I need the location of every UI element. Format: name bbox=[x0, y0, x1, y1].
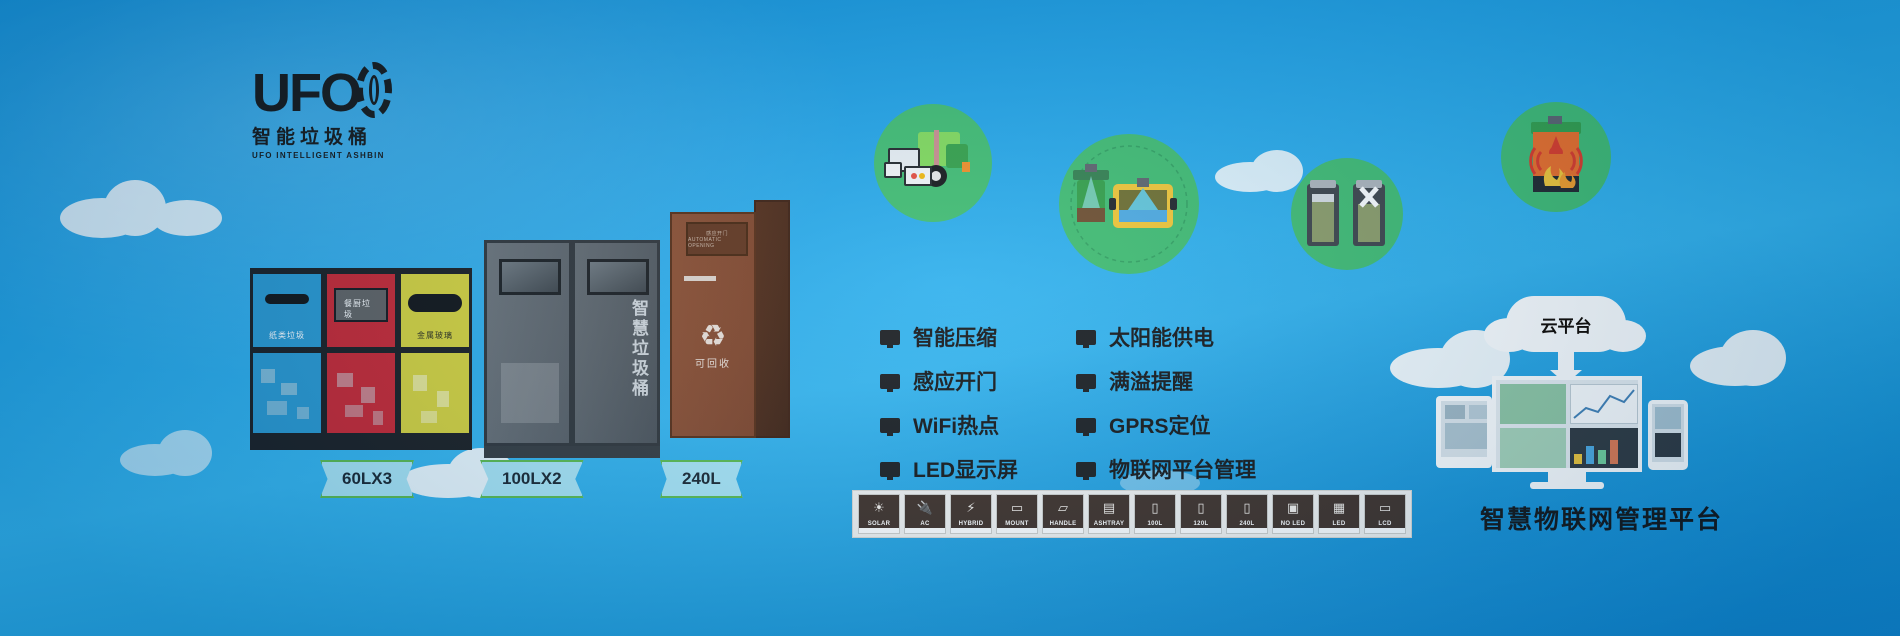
feature-item: 智能压缩 bbox=[880, 322, 1018, 352]
spec-icon-solar[interactable]: ☀SOLAR bbox=[858, 494, 900, 534]
spec-icon-ac[interactable]: 🔌AC bbox=[904, 494, 946, 534]
feature-column-right: 太阳能供电 满溢提醒 GPRS定位 物联网平台管理 bbox=[1076, 322, 1256, 484]
monitor-bullet-icon bbox=[880, 330, 900, 345]
phone-device bbox=[1648, 400, 1688, 470]
spec-icon-lcd[interactable]: ▭LCD bbox=[1364, 494, 1406, 534]
bin-compartment-kitchen: 餐厨垃圾 bbox=[324, 268, 398, 436]
feature-item: 感应开门 bbox=[880, 366, 1018, 396]
spec-icon-glyph: ☀ bbox=[859, 495, 899, 520]
feature-item: GPRS定位 bbox=[1076, 410, 1256, 440]
spec-icon-glyph: ▭ bbox=[1365, 495, 1405, 520]
promo-banner: UFO 智能垃圾桶 UFO INTELLIGENT ASHBIN 纸类垃圾 bbox=[0, 0, 1900, 636]
spec-icon-glyph: ▭ bbox=[997, 495, 1037, 520]
recycle-icon: ♻ bbox=[695, 322, 731, 352]
spec-icon-label: 100L bbox=[1135, 520, 1175, 528]
monitor-bullet-icon bbox=[1076, 374, 1096, 389]
spec-icon-ashtray[interactable]: ▤ASHTRAY bbox=[1088, 494, 1130, 534]
monitor-bullet-icon bbox=[1076, 418, 1096, 433]
spec-icon-label: HANDLE bbox=[1043, 520, 1083, 528]
bin-window bbox=[587, 259, 649, 295]
circle-collection-truck bbox=[874, 104, 992, 222]
bin-front-panel: 感应开门 AUTOMATIC OPENING ♻ 可回收 bbox=[670, 212, 756, 438]
logo-ring-icon bbox=[356, 62, 392, 118]
logo-wordmark: UFO bbox=[252, 69, 360, 118]
compression-icon bbox=[1291, 158, 1403, 270]
spec-icon-label: LED bbox=[1319, 520, 1359, 528]
line-chart-icon bbox=[1572, 386, 1636, 422]
spec-icon-label: MOUNT bbox=[997, 520, 1037, 528]
bin-side-text: 智慧垃圾桶 bbox=[626, 299, 651, 399]
logo-name-cn: 智能垃圾桶 bbox=[252, 122, 392, 149]
recycle-label: 可回收 bbox=[695, 355, 731, 370]
badge-product-2: 100LX2 bbox=[480, 460, 584, 498]
spec-icon-hybrid[interactable]: ⚡HYBRID bbox=[950, 494, 992, 534]
spec-icon-glyph: ▤ bbox=[1089, 495, 1129, 520]
brand-logo: UFO 智能垃圾桶 UFO INTELLIGENT ASHBIN bbox=[252, 62, 392, 160]
spec-icon-led[interactable]: ▦LED bbox=[1318, 494, 1360, 534]
monitor-bullet-icon bbox=[880, 418, 900, 433]
down-arrow-icon bbox=[1558, 352, 1574, 372]
spec-icon-strip: ☀SOLAR🔌AC⚡HYBRID▭MOUNT▱HANDLE▤ASHTRAY▯10… bbox=[852, 490, 1412, 538]
feature-item: WiFi热点 bbox=[880, 410, 1018, 440]
iot-platform-illustration: 云平台 bbox=[1430, 300, 1720, 490]
spec-icon-glyph: ▣ bbox=[1273, 495, 1313, 520]
badge-product-3: 240L bbox=[660, 460, 743, 498]
bin-unit: 智慧垃圾桶 bbox=[572, 240, 660, 446]
bin-unit bbox=[484, 240, 572, 446]
feature-column-left: 智能压缩 感应开门 WiFi热点 LED显示屏 bbox=[880, 322, 1018, 484]
spec-icon-glyph: ⚡ bbox=[951, 495, 991, 520]
truck-icon bbox=[874, 104, 992, 222]
compartment-label: 金属玻璃 bbox=[417, 330, 453, 341]
spec-icon-glyph: ▦ bbox=[1319, 495, 1359, 520]
feature-item: LED显示屏 bbox=[880, 454, 1018, 484]
bin-compartment-paper: 纸类垃圾 bbox=[250, 268, 324, 436]
monitor-bullet-icon bbox=[880, 374, 900, 389]
bin-compartment-metal-glass: 金属玻璃 bbox=[398, 268, 472, 436]
spec-icon-glyph: ▯ bbox=[1181, 495, 1221, 520]
fill-sensor-icon bbox=[1059, 134, 1199, 274]
spec-icon-handle[interactable]: ▱HANDLE bbox=[1042, 494, 1084, 534]
monitor-bullet-icon bbox=[880, 462, 900, 477]
bin-display: 感应开门 AUTOMATIC OPENING bbox=[686, 222, 748, 256]
spec-icon-label: HYBRID bbox=[951, 520, 991, 528]
spec-icon-label: 240L bbox=[1227, 520, 1267, 528]
spec-icon-label: ASHTRAY bbox=[1089, 520, 1129, 528]
fire-alarm-icon bbox=[1501, 102, 1611, 212]
spec-icon-glyph: ▯ bbox=[1227, 495, 1267, 520]
compartment-label: 纸类垃圾 bbox=[269, 330, 305, 341]
spec-icon-glyph: 🔌 bbox=[905, 495, 945, 520]
spec-icon-glyph: ▱ bbox=[1043, 495, 1083, 520]
monitor-base bbox=[1530, 482, 1604, 489]
spec-icon-label: 120L bbox=[1181, 520, 1221, 528]
product-recycle-bin: 感应开门 AUTOMATIC OPENING ♻ 可回收 bbox=[670, 212, 778, 438]
spec-icon-label: AC bbox=[905, 520, 945, 528]
circle-fire-alarm bbox=[1501, 102, 1611, 212]
dashboard-screen bbox=[1496, 380, 1638, 468]
circle-fill-sensor bbox=[1059, 134, 1199, 274]
spec-icon-120l[interactable]: ▯120L bbox=[1180, 494, 1222, 534]
feature-list: 智能压缩 感应开门 WiFi热点 LED显示屏 太阳能供电 满溢提醒 GPRS定… bbox=[880, 322, 1256, 484]
feature-item: 太阳能供电 bbox=[1076, 322, 1256, 352]
product-smart-bin: 智慧垃圾桶 bbox=[484, 240, 660, 458]
bin-window bbox=[499, 259, 561, 295]
product-three-colour-bin: 纸类垃圾 餐厨垃圾 bbox=[250, 268, 472, 450]
bin-side-panel bbox=[754, 200, 790, 438]
circle-compression bbox=[1291, 158, 1403, 270]
platform-caption: 智慧物联网管理平台 bbox=[1480, 500, 1723, 536]
recycle-mark: ♻ 可回收 bbox=[695, 322, 731, 370]
spec-icon-no-led[interactable]: ▣NO LED bbox=[1272, 494, 1314, 534]
cloud-platform-label: 云平台 bbox=[1506, 296, 1626, 352]
spec-icon-240l[interactable]: ▯240L bbox=[1226, 494, 1268, 534]
logo-name-en: UFO INTELLIGENT ASHBIN bbox=[252, 151, 392, 160]
spec-icon-label: LCD bbox=[1365, 520, 1405, 528]
monitor-bullet-icon bbox=[1076, 462, 1096, 477]
feature-item: 满溢提醒 bbox=[1076, 366, 1256, 396]
compartment-label: 餐厨垃圾 bbox=[344, 298, 378, 320]
desktop-monitor bbox=[1492, 376, 1642, 472]
spec-icon-mount[interactable]: ▭MOUNT bbox=[996, 494, 1038, 534]
feature-item: 物联网平台管理 bbox=[1076, 454, 1256, 484]
spec-icon-label: NO LED bbox=[1273, 520, 1313, 528]
spec-icon-label: SOLAR bbox=[859, 520, 899, 528]
monitor-bullet-icon bbox=[1076, 330, 1096, 345]
tablet-device bbox=[1436, 396, 1492, 468]
spec-icon-100l[interactable]: ▯100L bbox=[1134, 494, 1176, 534]
badge-product-1: 60LX3 bbox=[320, 460, 414, 498]
spec-icon-glyph: ▯ bbox=[1135, 495, 1175, 520]
